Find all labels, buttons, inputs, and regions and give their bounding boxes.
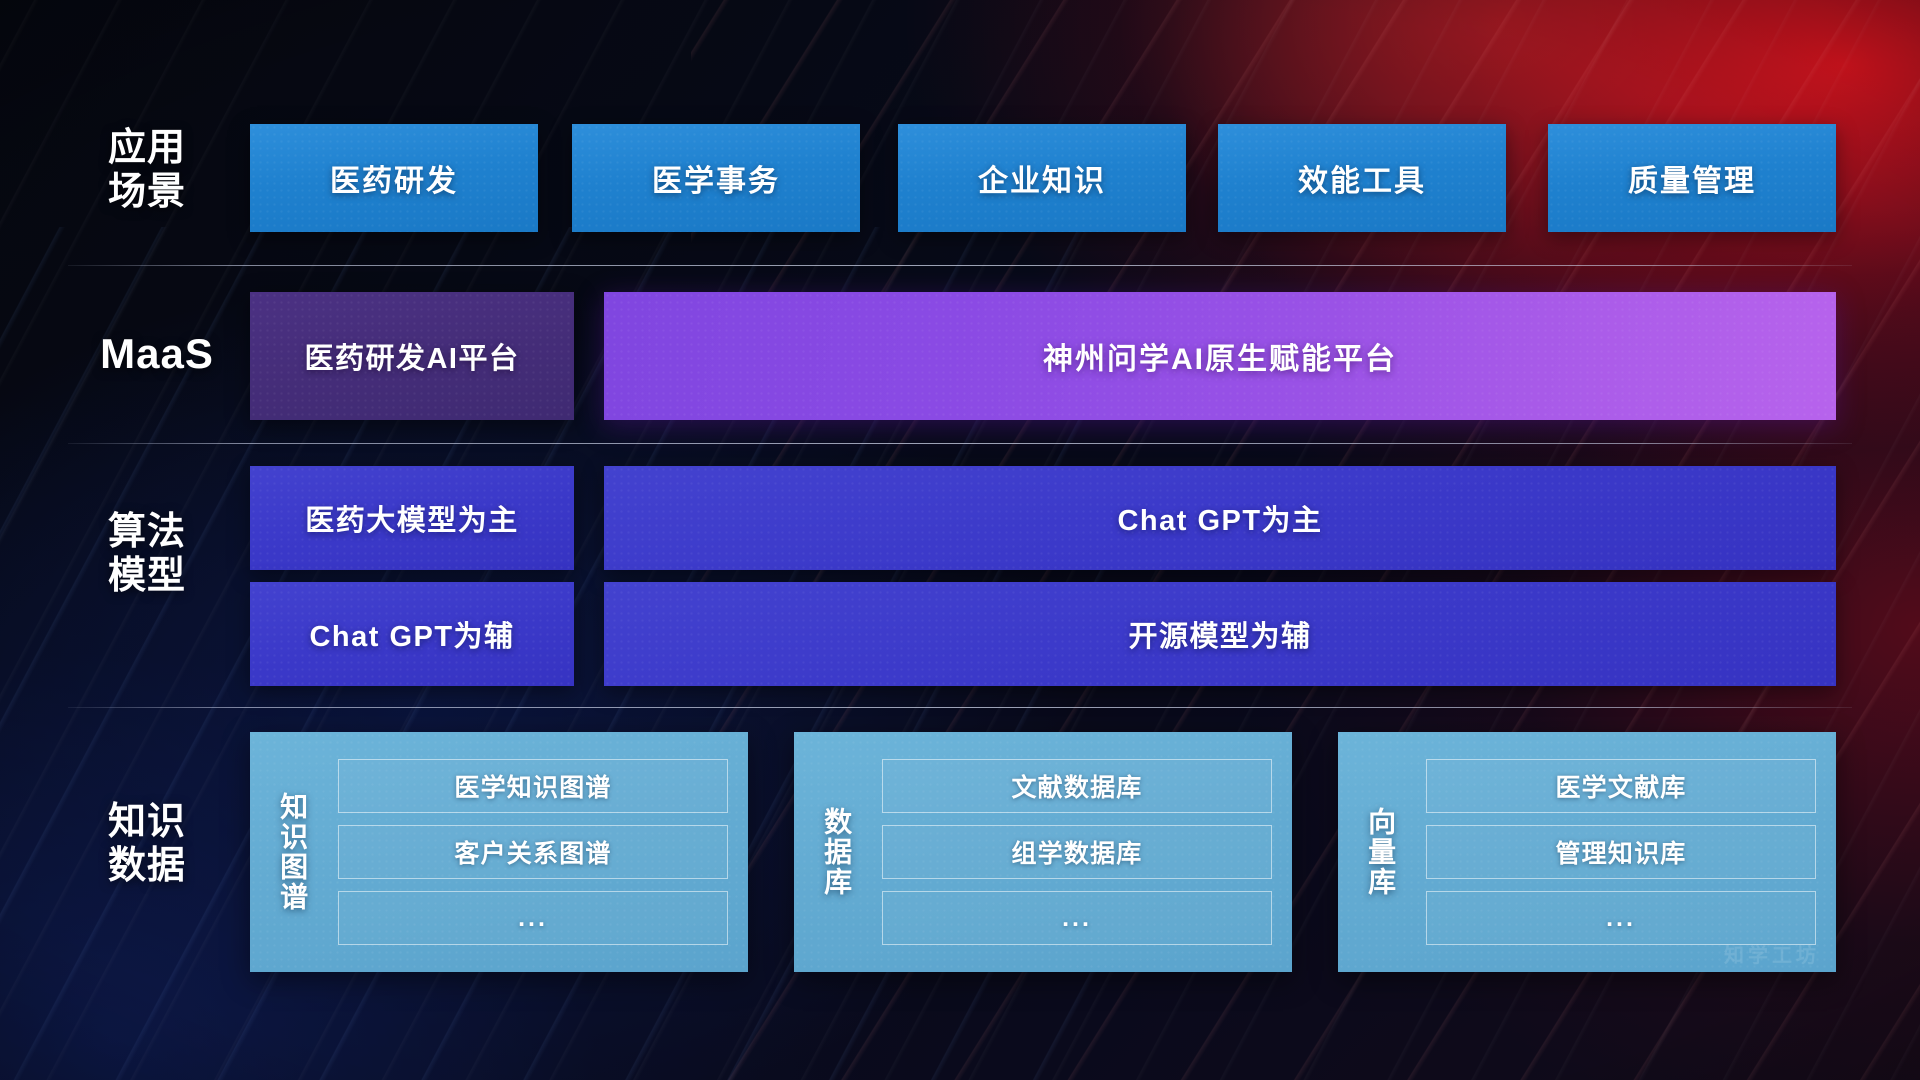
knowledge-item-more[interactable]: ... — [882, 891, 1272, 945]
row-label-algorithm-line1: 算法 — [62, 510, 232, 554]
knowledge-item-omics-database[interactable]: 组学数据库 — [882, 825, 1272, 879]
knowledge-panel-items: 医学文献库 管理知识库 ... — [1422, 732, 1836, 972]
app-card-label: 企业知识 — [978, 156, 1106, 200]
divider-maas-algorithm — [68, 443, 1852, 444]
knowledge-panel-vertical-label: 知识图谱 — [250, 732, 334, 972]
knowledge-panel-vertical-label: 向量库 — [1338, 732, 1422, 972]
algo-card-pharma-large-model-primary[interactable]: 医药大模型为主 — [250, 466, 574, 570]
divider-application-maas — [68, 265, 1852, 266]
algo-card-chatgpt-secondary[interactable]: Chat GPT为辅 — [250, 582, 574, 686]
row-label-application: 应用 场景 — [62, 126, 232, 214]
maas-card-pharma-ai-platform[interactable]: 医药研发AI平台 — [250, 292, 574, 420]
knowledge-panel-vector-store[interactable]: 向量库 医学文献库 管理知识库 ... — [1338, 732, 1836, 972]
app-card-label: 医药研发 — [330, 156, 458, 200]
knowledge-panel-items: 医学知识图谱 客户关系图谱 ... — [334, 732, 748, 972]
row-label-maas-line1: MaaS — [62, 330, 252, 379]
app-card-label: 质量管理 — [1628, 156, 1756, 200]
knowledge-panel-database[interactable]: 数据库 文献数据库 组学数据库 ... — [794, 732, 1292, 972]
architecture-diagram: 应用 场景 医药研发 医学事务 企业知识 效能工具 质量管理 MaaS 医药研发… — [0, 0, 1920, 1080]
row-label-knowledge: 知识 数据 — [62, 800, 232, 888]
algo-card-chatgpt-primary[interactable]: Chat GPT为主 — [604, 466, 1836, 570]
app-card-medical-affairs[interactable]: 医学事务 — [572, 124, 860, 232]
row-label-maas: MaaS — [62, 330, 252, 379]
algo-card-opensource-model-secondary[interactable]: 开源模型为辅 — [604, 582, 1836, 686]
row-label-algorithm-line2: 模型 — [62, 554, 232, 598]
knowledge-panel-vertical-label: 数据库 — [794, 732, 878, 972]
knowledge-item-more[interactable]: ... — [1426, 891, 1816, 945]
algo-card-label: Chat GPT为辅 — [309, 613, 514, 655]
knowledge-item-management-knowledge-store[interactable]: 管理知识库 — [1426, 825, 1816, 879]
row-label-knowledge-line1: 知识 — [62, 800, 232, 844]
app-card-label: 效能工具 — [1298, 156, 1426, 200]
knowledge-item-medical-knowledge-graph[interactable]: 医学知识图谱 — [338, 759, 728, 813]
app-card-label: 医学事务 — [652, 156, 780, 200]
app-card-quality-management[interactable]: 质量管理 — [1548, 124, 1836, 232]
app-card-enterprise-knowledge[interactable]: 企业知识 — [898, 124, 1186, 232]
row-label-knowledge-line2: 数据 — [62, 844, 232, 888]
row-label-algorithm: 算法 模型 — [62, 510, 232, 598]
app-card-medicine-rd[interactable]: 医药研发 — [250, 124, 538, 232]
algo-card-label: 医药大模型为主 — [305, 497, 519, 539]
knowledge-item-customer-relation-graph[interactable]: 客户关系图谱 — [338, 825, 728, 879]
algo-card-label: Chat GPT为主 — [1117, 497, 1322, 539]
knowledge-panel-items: 文献数据库 组学数据库 ... — [878, 732, 1292, 972]
divider-algorithm-knowledge — [68, 707, 1852, 708]
knowledge-panel-knowledge-graph[interactable]: 知识图谱 医学知识图谱 客户关系图谱 ... — [250, 732, 748, 972]
maas-card-shenzhou-wenxue-platform[interactable]: 神州问学AI原生赋能平台 — [604, 292, 1836, 420]
knowledge-item-more[interactable]: ... — [338, 891, 728, 945]
maas-card-label: 神州问学AI原生赋能平台 — [1043, 334, 1397, 378]
maas-card-label: 医药研发AI平台 — [304, 335, 519, 377]
row-label-application-line2: 场景 — [62, 170, 232, 214]
algo-card-label: 开源模型为辅 — [1128, 613, 1311, 655]
knowledge-item-medical-literature-store[interactable]: 医学文献库 — [1426, 759, 1816, 813]
knowledge-item-literature-database[interactable]: 文献数据库 — [882, 759, 1272, 813]
row-label-application-line1: 应用 — [62, 126, 232, 170]
app-card-efficiency-tools[interactable]: 效能工具 — [1218, 124, 1506, 232]
